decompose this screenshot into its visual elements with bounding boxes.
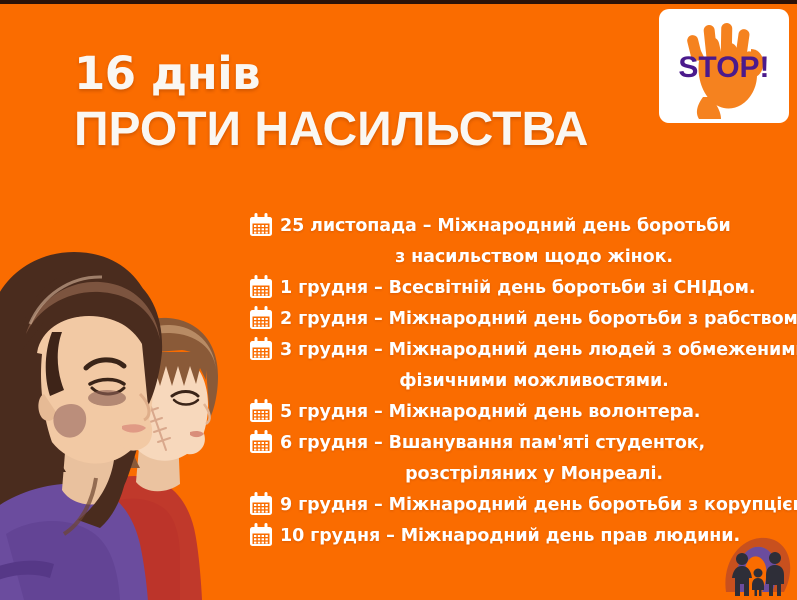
list-item: з насильством щодо жінок. — [248, 241, 788, 272]
list-item-label: 2 грудня – Міжнародний день боротьби з р… — [280, 303, 797, 334]
list-item: 5 грудня – Міжнародний день волонтера. — [248, 396, 788, 427]
title-line-one: 16 днів — [74, 48, 588, 100]
list-item: 6 грудня – Вшанування пам'яті студенток, — [248, 427, 788, 458]
poster-canvas: 16 днів ПРОТИ НАСИЛЬСТВА STOP! — [0, 0, 797, 600]
calendar-icon — [248, 212, 274, 238]
list-item-label: 6 грудня – Вшанування пам'яті студенток, — [280, 427, 705, 458]
list-item: 9 грудня – Міжнародний день боротьби з к… — [248, 489, 788, 520]
calendar-icon — [248, 522, 274, 548]
calendar-icon — [248, 429, 274, 455]
family-logo-icon — [725, 538, 790, 596]
page-title: 16 днів ПРОТИ НАСИЛЬСТВА — [74, 48, 588, 158]
list-item-label: 10 грудня – Міжнародний день прав людини… — [280, 520, 740, 551]
title-line-two: ПРОТИ НАСИЛЬСТВА — [74, 102, 588, 158]
calendar-icon — [248, 491, 274, 517]
calendar-icon — [248, 274, 274, 300]
events-list: 25 листопада – Міжнародний день боротьби… — [248, 210, 788, 551]
list-item: 10 грудня – Міжнародний день прав людини… — [248, 520, 788, 551]
list-item: розстріляних у Монреалі. — [248, 458, 788, 489]
list-item: 1 грудня – Всесвітній день боротьби зі С… — [248, 272, 788, 303]
list-item: фізичними можливостями. — [248, 365, 788, 396]
top-border-strip — [0, 0, 797, 4]
stop-logo: STOP! — [659, 9, 789, 123]
list-item: 2 грудня – Міжнародний день боротьби з р… — [248, 303, 788, 334]
calendar-icon — [248, 398, 274, 424]
list-item-label: фізичними можливостями. — [280, 365, 788, 396]
list-item-label: 3 грудня – Міжнародний день людей з обме… — [280, 334, 797, 365]
stop-logo-text: STOP! — [678, 51, 769, 84]
list-item: 3 грудня – Міжнародний день людей з обме… — [248, 334, 788, 365]
calendar-icon — [248, 336, 274, 362]
list-item-label: з насильством щодо жінок. — [280, 241, 788, 272]
list-item-label: 5 грудня – Міжнародний день волонтера. — [280, 396, 700, 427]
list-item-label: 25 листопада – Міжнародний день боротьби — [280, 210, 731, 241]
list-item-label: 1 грудня – Всесвітній день боротьби зі С… — [280, 272, 755, 303]
family-logo — [716, 530, 794, 598]
list-item: 25 листопада – Міжнародний день боротьби — [248, 210, 788, 241]
calendar-icon — [248, 305, 274, 331]
list-item-label: 9 грудня – Міжнародний день боротьби з к… — [280, 489, 797, 520]
two-women-illustration — [0, 228, 252, 600]
list-item-label: розстріляних у Монреалі. — [280, 458, 788, 489]
